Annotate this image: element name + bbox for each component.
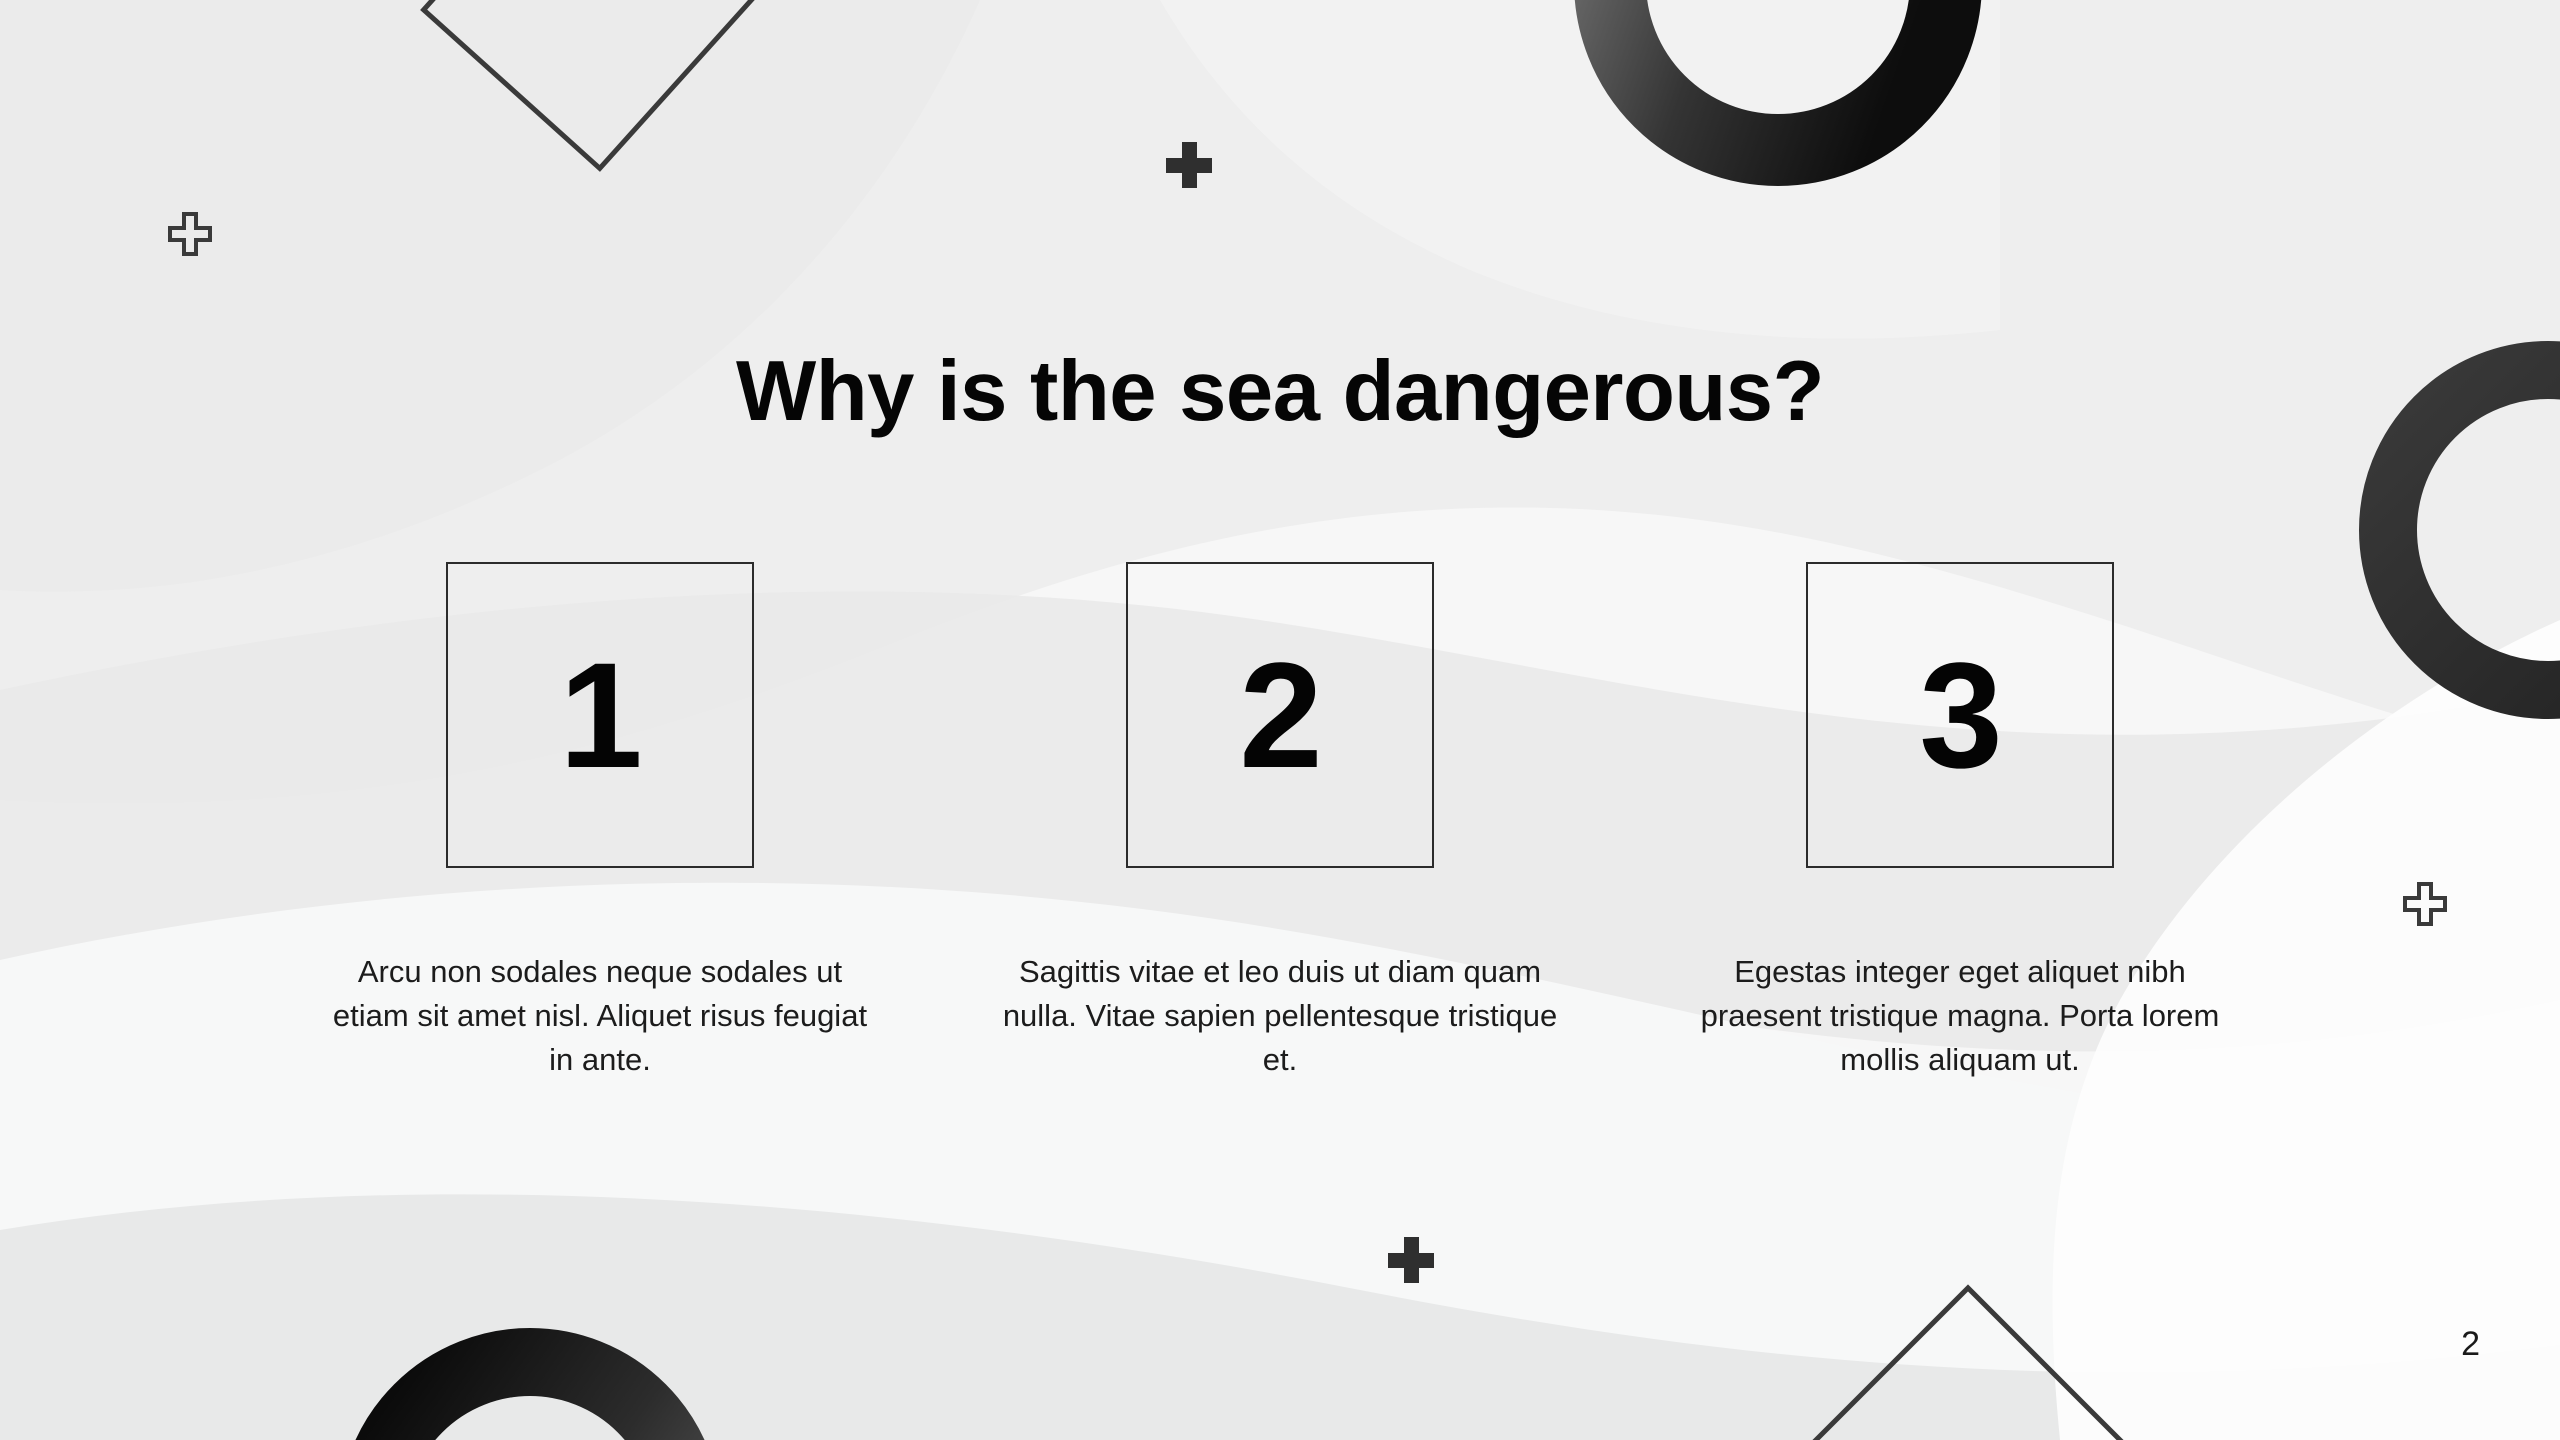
number-label: 3 — [1919, 640, 2000, 790]
number-box-2[interactable]: 2 — [1126, 562, 1434, 868]
numbered-columns: 1 Arcu non sodales neque sodales ut etia… — [320, 562, 2240, 1082]
column-description: Arcu non sodales neque sodales ut etiam … — [320, 950, 880, 1082]
column-description: Egestas integer eget aliquet nibh praese… — [1680, 950, 2240, 1082]
page-title: Why is the sea dangerous? — [0, 345, 2560, 439]
numbered-column: 2 Sagittis vitae et leo duis ut diam qua… — [1000, 562, 1560, 1082]
column-description: Sagittis vitae et leo duis ut diam quam … — [1000, 950, 1560, 1082]
numbered-column: 1 Arcu non sodales neque sodales ut etia… — [320, 562, 880, 1082]
slide-canvas: Why is the sea dangerous? 1 Arcu non sod… — [0, 0, 2560, 1440]
number-label: 2 — [1239, 640, 1320, 790]
slide-content: Why is the sea dangerous? 1 Arcu non sod… — [0, 0, 2560, 1440]
page-number: 2 — [2461, 1325, 2480, 1364]
number-box-3[interactable]: 3 — [1806, 562, 2114, 868]
number-box-1[interactable]: 1 — [446, 562, 754, 868]
number-label: 1 — [559, 640, 640, 790]
numbered-column: 3 Egestas integer eget aliquet nibh prae… — [1680, 562, 2240, 1082]
